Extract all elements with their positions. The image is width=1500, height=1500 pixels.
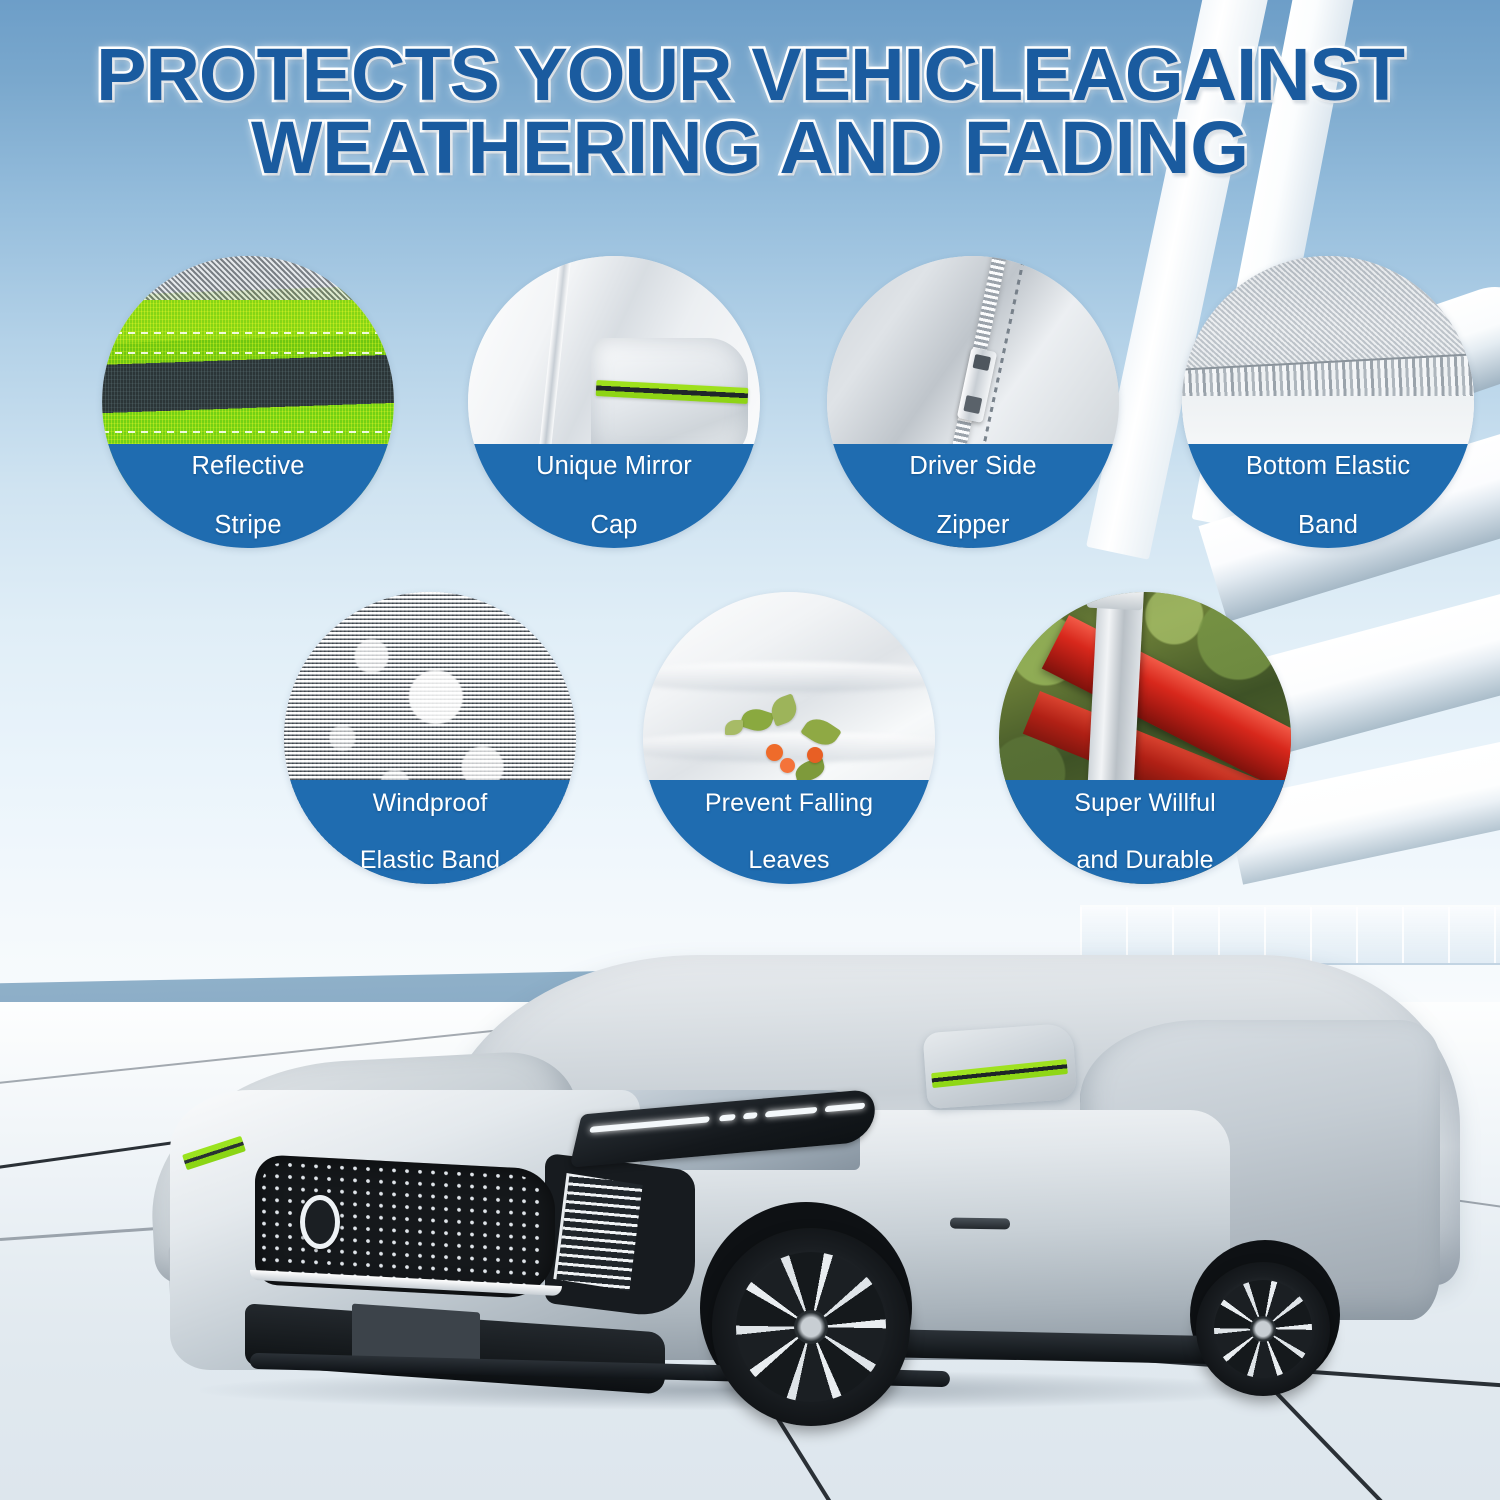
wheel-hub [794,1310,828,1344]
wheel-hub [1250,1316,1276,1342]
feature-label-band: Super Willful and Durable [999,780,1291,884]
feature-card-super-willful-and-durable[interactable]: Super Willful and Durable [999,592,1291,884]
feature-label-band: Windproof Elastic Band [284,780,576,884]
mirror-cap-pocket [923,1023,1078,1109]
poster-stage: PROTECTS YOUR VEHICLEAGAINST WEATHERING … [0,0,1500,1500]
feature-label: Reflective Stripe [180,452,317,539]
feature-label: Windproof Elastic Band [348,789,512,875]
headline-line-1: PROTECTS YOUR VEHICLEAGAINST [0,38,1500,111]
feature-label-band: Prevent Falling Leaves [643,780,935,884]
door-handle [950,1217,1010,1229]
feature-label: Bottom Elastic Band [1234,452,1422,539]
feature-card-windproof-elastic-band[interactable]: Windproof Elastic Band [284,592,576,884]
feature-card-unique-mirror-cap[interactable]: Unique Mirror Cap [468,256,760,548]
feature-label-band: Driver Side Zipper [827,444,1119,548]
car-with-cover-scene [0,940,1500,1500]
feature-label-band: Unique Mirror Cap [468,444,760,548]
feature-label-band: Bottom Elastic Band [1182,444,1474,548]
feature-card-driver-side-zipper[interactable]: Driver Side Zipper [827,256,1119,548]
front-wheel [712,1228,910,1426]
feature-card-bottom-elastic-band[interactable]: Bottom Elastic Band [1182,256,1474,548]
side-air-vent [553,1173,642,1291]
feature-card-prevent-falling-leaves[interactable]: Prevent Falling Leaves [643,592,935,884]
feature-label: Unique Mirror Cap [524,452,704,539]
feature-card-reflective-stripe[interactable]: Reflective Stripe [102,256,394,548]
mirror-reflective-stripe [931,1059,1068,1088]
rear-wheel [1196,1262,1330,1396]
page-title: PROTECTS YOUR VEHICLEAGAINST WEATHERING … [0,38,1500,185]
feature-label: Super Willful and Durable [1062,789,1228,875]
headline-line-2: WEATHERING AND FADING [0,111,1500,184]
brand-emblem [300,1195,340,1249]
feature-label: Prevent Falling Leaves [693,789,885,875]
feature-label: Driver Side Zipper [897,452,1048,539]
feature-label-band: Reflective Stripe [102,444,394,548]
